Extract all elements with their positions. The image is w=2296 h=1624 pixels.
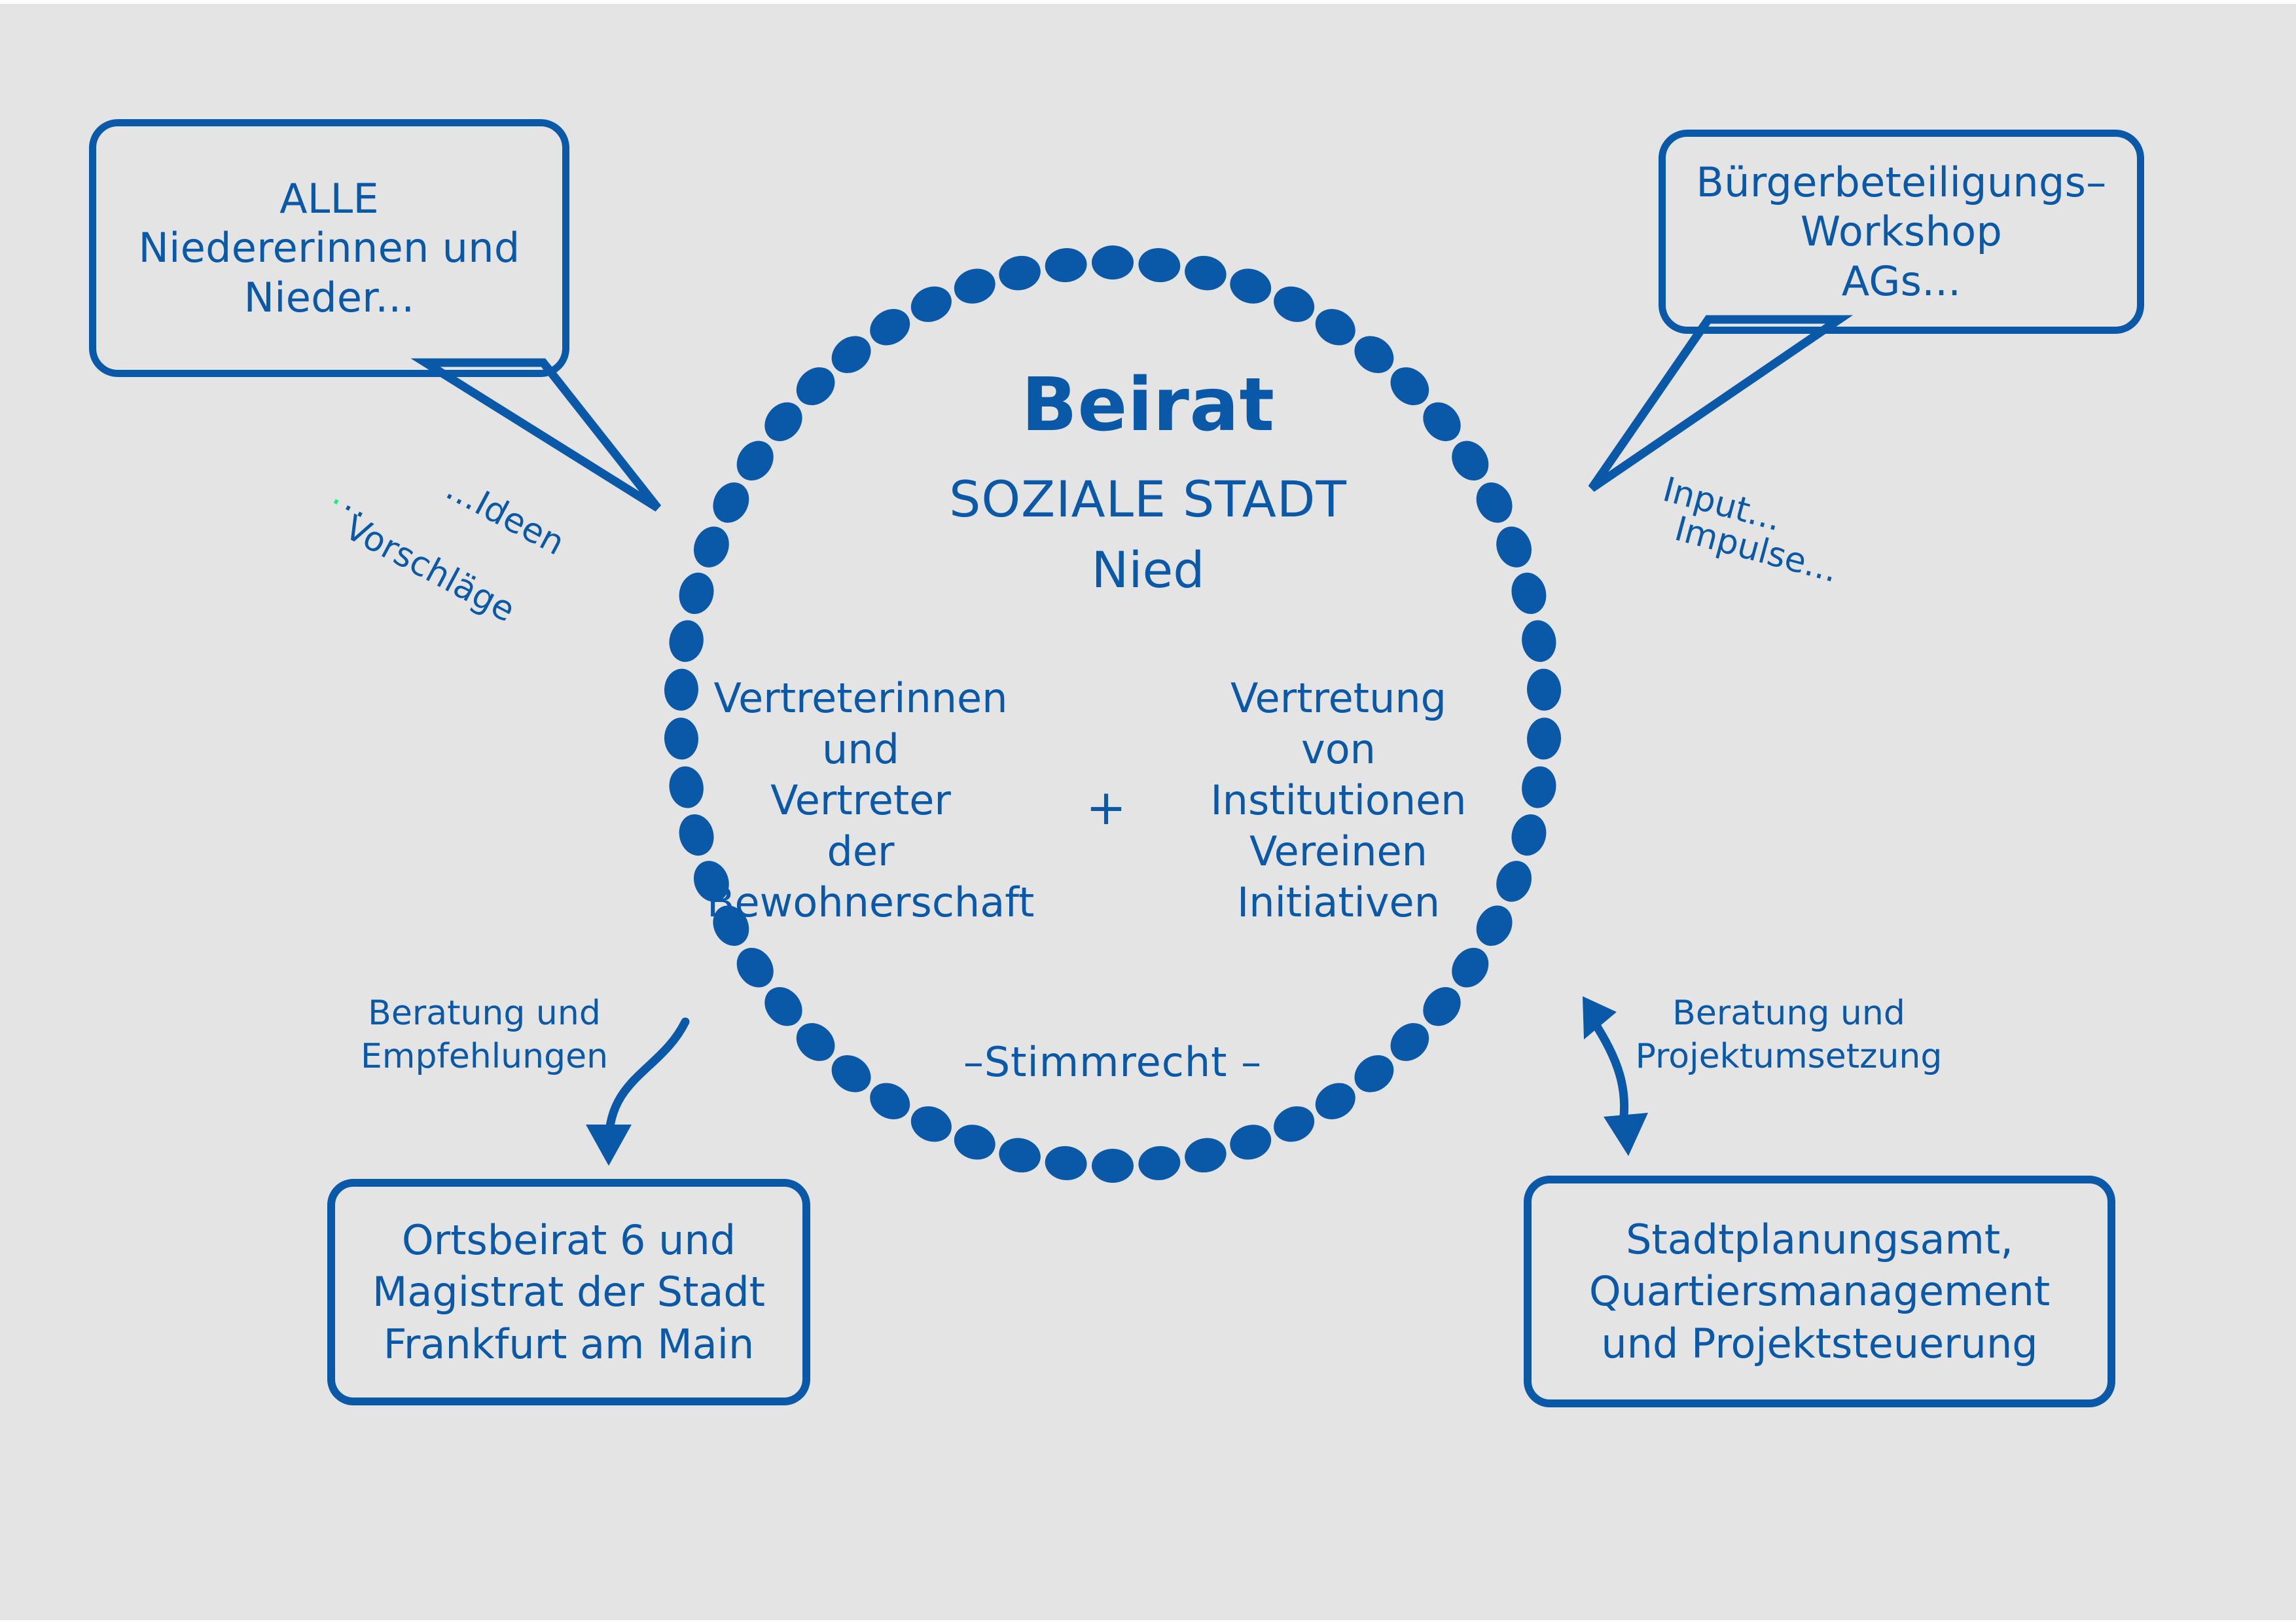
- circle-dot: [863, 302, 917, 353]
- diagram-canvas: ALLE Niedererinnen und Nieder... Bürgerb…: [0, 0, 2296, 1624]
- circle-dot: [863, 1075, 917, 1127]
- bubble-left-line1: ALLE: [138, 174, 520, 224]
- box-left-label: Ortsbeirat 6 und Magistrat der Stadt Fra…: [372, 1214, 765, 1370]
- circle-dot: [1518, 764, 1559, 811]
- circle-dot: [1137, 246, 1182, 285]
- plus-operator: +: [1067, 780, 1145, 836]
- arrow-right-double: [1592, 1019, 1624, 1130]
- circle-dot: [1507, 810, 1551, 860]
- speech-bubble-left[interactable]: ALLE Niedererinnen und Nieder...: [89, 119, 569, 377]
- arrow-right-down-head: [1604, 1113, 1648, 1156]
- circle-dot: [729, 941, 781, 994]
- center-left-column: Vertreterinnen und Vertreter der Bewohne…: [707, 673, 1014, 929]
- arrow-right-up-head: [1583, 996, 1617, 1039]
- circle-dot: [1092, 245, 1134, 280]
- circle-dot: [1526, 717, 1562, 761]
- circle-dot: [663, 668, 699, 712]
- annotation-beratung-projektumsetzung: Beratung und Projektumsetzung: [1635, 992, 1943, 1078]
- circle-dot: [996, 1134, 1044, 1177]
- box-stadtplanungsamt[interactable]: Stadtplanungsamt, Quartiersmanagement un…: [1524, 1176, 2115, 1407]
- arrow-left-down-head: [586, 1125, 632, 1166]
- circle-dot: [1383, 1015, 1437, 1069]
- circle-dot: [1268, 280, 1320, 329]
- circle-dot: [1181, 1134, 1230, 1177]
- center-subtitle-line2: Nied: [0, 541, 2296, 599]
- bubble-right-line2: Workshop: [1696, 207, 2106, 257]
- circle-dot: [1225, 263, 1276, 309]
- circle-dot: [1518, 618, 1559, 665]
- circle-dot: [1308, 1075, 1362, 1127]
- center-footer-stimmrecht: –Stimmrecht –: [916, 1038, 1309, 1086]
- circle-dot: [666, 764, 707, 811]
- circle-dot: [1444, 941, 1496, 994]
- circle-dot: [757, 979, 810, 1033]
- circle-dot: [1268, 1100, 1320, 1148]
- bubble-right-line1: Bürgerbeteiligungs–: [1696, 158, 2106, 208]
- circle-dot: [1043, 1144, 1088, 1183]
- box-right-label: Stadtplanungsamt, Quartiersmanagement un…: [1589, 1214, 2050, 1369]
- circle-dot: [1181, 252, 1230, 295]
- bubble-left-line3: Nieder...: [138, 273, 520, 323]
- circle-dot: [1415, 979, 1468, 1033]
- circle-dot: [1137, 1144, 1182, 1183]
- bubble-right-line3: AGs...: [1696, 257, 2106, 306]
- bubble-left-line2: Niedererinnen und: [138, 223, 520, 273]
- circle-dot: [1469, 899, 1519, 952]
- box-ortsbeirat-magistrat[interactable]: Ortsbeirat 6 und Magistrat der Stadt Fra…: [327, 1179, 810, 1405]
- speech-bubble-right[interactable]: Bürgerbeteiligungs– Workshop AGs...: [1659, 130, 2144, 334]
- circle-dot: [950, 1119, 1000, 1165]
- center-right-column: Vertretung von Institutionen Vereinen In…: [1208, 673, 1469, 929]
- circle-dot: [663, 717, 699, 761]
- circle-dot: [905, 280, 958, 329]
- circle-dot: [1526, 668, 1562, 712]
- circle-dot: [996, 252, 1044, 295]
- circle-dot: [789, 1015, 842, 1069]
- circle-dot: [1225, 1119, 1276, 1165]
- arrow-left-down: [609, 1022, 685, 1143]
- circle-dot: [1490, 856, 1537, 907]
- circle-dot: [824, 1047, 878, 1100]
- circle-dot: [950, 263, 1000, 309]
- circle-dot: [666, 618, 707, 665]
- circle-dot: [1043, 246, 1088, 285]
- circle-dot: [1308, 302, 1362, 353]
- circle-dot: [1347, 1047, 1401, 1100]
- circle-dot: [1092, 1149, 1134, 1183]
- annotation-beratung-empfehlungen: Beratung und Empfehlungen: [353, 992, 615, 1078]
- circle-dot: [905, 1100, 958, 1148]
- center-title: Beirat: [0, 363, 2296, 448]
